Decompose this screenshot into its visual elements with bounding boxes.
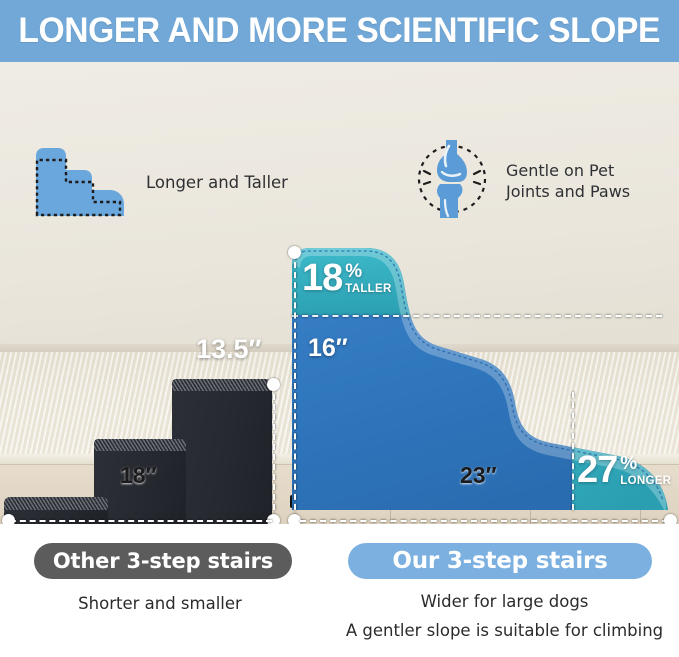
other-stairs-product <box>4 379 276 524</box>
other-product-caption: Shorter and smaller <box>0 594 320 613</box>
other-width-label: 18″ <box>120 462 157 489</box>
dimension-endpoint-dot <box>664 514 677 524</box>
other-step-face-3 <box>172 391 272 524</box>
comparison-summary: Other 3-step stairs Our 3-step stairs Sh… <box>0 524 679 657</box>
feature-joint-care-label: Gentle on Pet Joints and Paws <box>506 161 630 202</box>
longer-region-boundary <box>572 392 574 510</box>
badge-longer-value: 27 <box>577 454 617 487</box>
badge-longer-word: LONGER <box>620 475 671 487</box>
our-product-pill: Our 3-step stairs <box>348 543 652 579</box>
our-width-dimension-line <box>300 520 668 522</box>
badge-taller-symbol: % <box>345 263 391 281</box>
badge-taller-value: 18 <box>302 262 342 295</box>
our-height-label: 16″ <box>308 334 348 363</box>
dimension-endpoint-dot <box>267 514 280 524</box>
pet-joint-icon <box>412 138 492 225</box>
dimension-endpoint-dot <box>2 514 15 524</box>
feature-longer-taller: Longer and Taller <box>28 142 288 223</box>
badge-taller-word: TALLER <box>345 283 391 295</box>
other-height-dimension-line <box>273 384 275 520</box>
badge-longer-symbol: % <box>620 455 671 473</box>
header-banner: LONGER AND MORE SCIENTIFIC SLOPE <box>0 0 679 62</box>
our-product-name: Our 3-step stairs <box>392 548 607 574</box>
product-comparison-photo: Longer and Taller <box>0 62 679 524</box>
our-product-caption-1: Wider for large dogs <box>330 592 679 611</box>
other-height-label: 13.5″ <box>196 334 261 365</box>
badge-longer: 27 % LONGER <box>577 454 671 487</box>
feature-icon-row: Longer and Taller <box>0 124 679 234</box>
our-height-dimension-line <box>294 252 296 520</box>
dimension-endpoint-dot <box>288 246 301 259</box>
other-width-dimension-line <box>10 520 272 522</box>
our-product-caption-2: A gentler slope is suitable for climbing <box>330 621 679 640</box>
dimension-endpoint-dot <box>288 514 301 524</box>
page-title: LONGER AND MORE SCIENTIFIC SLOPE <box>19 11 661 51</box>
stairs-ramp-icon <box>28 142 132 223</box>
our-width-label: 23″ <box>460 462 497 489</box>
badge-taller: 18 % TALLER <box>302 262 392 295</box>
dimension-endpoint-dot <box>267 378 280 391</box>
feature-joint-care: Gentle on Pet Joints and Paws <box>412 138 630 225</box>
other-product-pill: Other 3-step stairs <box>34 543 292 579</box>
feature-longer-taller-label: Longer and Taller <box>146 172 288 193</box>
taller-region-boundary <box>292 315 662 317</box>
other-product-name: Other 3-step stairs <box>53 549 273 573</box>
